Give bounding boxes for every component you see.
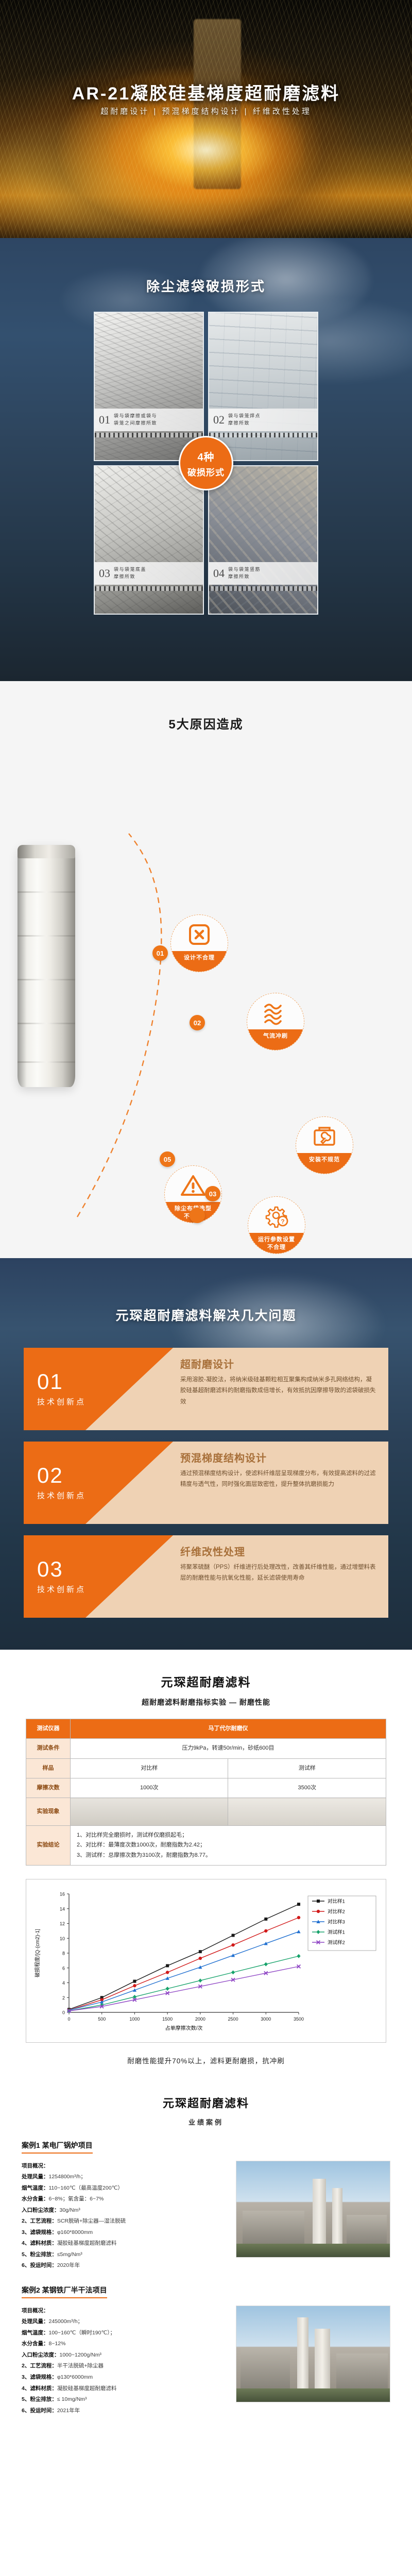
table-row-key: 测试条件 <box>26 1739 71 1758</box>
ruler-strip <box>209 586 317 591</box>
case-spec-row: 水分含量：6~8%；氧含量：6~7% <box>22 2194 229 2205</box>
table-row: 样品 对比样 测试样 <box>26 1758 386 1778</box>
table-cell-photo <box>71 1798 228 1826</box>
table-row-key: 实验结论 <box>26 1826 71 1866</box>
case-title: 案例2 某钢铁厂半干法项目 <box>22 2285 107 2298</box>
svg-text:对比样3: 对比样3 <box>328 1919 345 1925</box>
case-spec-row: 项目概况： <box>22 2161 229 2172</box>
test-conclusion: 耐磨性能提升70%以上，滤料更耐磨损，抗冲刷 <box>0 2055 412 2065</box>
innovation-sublabel: 技术创新点 <box>37 1490 173 1501</box>
table-header-cell: 测试仪器 <box>26 1719 71 1739</box>
case-spec-value: φ160*8000mm <box>57 2227 93 2239</box>
case-spec-label: 5、粉尘排放： <box>22 2394 57 2405</box>
damage-photo-card: 04 袋与袋笼竖筋 摩擦所致 <box>208 465 318 615</box>
damage-photo-label: 01 袋与袋摩擦或袋与 袋笼之间摩擦所致 <box>95 409 203 431</box>
section-title-test: 元琛超耐磨滤料 <box>0 1672 412 1690</box>
case-spec-row: 6、投运时间：2020年年 <box>22 2260 229 2272</box>
case-spec-label: 5、粉尘排放： <box>22 2249 57 2261</box>
case-spec-label: 3、滤袋规格： <box>22 2227 57 2239</box>
damage-photo-card: 02 袋与袋笼焊点 摩擦所致 <box>208 312 318 461</box>
table-header-row: 测试仪器 马丁代尔耐磨仪 <box>26 1719 386 1739</box>
cause-node-04: ? 运行参数设置 不合理 <box>233 1196 320 1254</box>
innovation-number: 01 <box>37 1371 173 1393</box>
case-spec-label: 处理风量： <box>22 2316 49 2328</box>
innovation-card-index: 01 技术创新点 <box>24 1348 173 1430</box>
svg-text:1500: 1500 <box>162 2016 173 2022</box>
case-spec-label: 3、滤袋规格： <box>22 2372 57 2383</box>
ruler-strip <box>209 433 317 437</box>
innovation-text: 将聚苯硫醚（PPS）纤维进行后处理改性，改善其纤维性能，通过增塑料表层的耐磨性能… <box>180 1562 377 1584</box>
table-row: 摩擦次数 1000次 3500次 <box>26 1778 386 1798</box>
case-item: 案例2 某钢铁厂半干法项目 项目概况：处理风量：245000m³/h；烟气温度：… <box>22 2285 390 2416</box>
case-spec-value: 半干法脱硫+除尘器 <box>57 2361 104 2372</box>
table-cell: 测试样 <box>228 1758 386 1778</box>
svg-text:12: 12 <box>60 1921 65 1926</box>
damage-photo-grid: 01 袋与袋摩擦或袋与 袋笼之间摩擦所致 02 袋与袋笼焊点 摩擦所致 <box>94 312 318 615</box>
svg-text:对比样2: 对比样2 <box>328 1908 345 1914</box>
damage-caption: 袋与袋笼竖筋 摩擦所致 <box>228 566 261 581</box>
case-spec-label: 6、投运时间： <box>22 2260 57 2272</box>
case-spec-label: 项目概况： <box>22 2306 49 2317</box>
test-result-table: 测试仪器 马丁代尔耐磨仪 测试条件 压力9kPa，转速50r/min，砂纸600… <box>26 1719 386 1866</box>
svg-text:0: 0 <box>62 2010 65 2015</box>
innovation-text: 通过预混梯度结构设计，使滤料纤维层呈现梯度分布，有效提高滤料的过滤精度与透气性，… <box>180 1468 377 1490</box>
section-subtitle-cases: 业绩案例 <box>0 2117 412 2127</box>
cause-label: 安装不规范 <box>296 1153 353 1174</box>
badge-count: 4种 <box>197 449 214 464</box>
case-spec-row: 6、投运时间：2021年年 <box>22 2405 229 2417</box>
table-cell: 1000次 <box>71 1778 228 1798</box>
case-spec-row: 水分含量：8~12% <box>22 2338 229 2350</box>
case-spec-value: φ130*6000mm <box>57 2372 93 2383</box>
svg-text:测试样2: 测试样2 <box>328 1939 345 1945</box>
svg-text:2500: 2500 <box>228 2016 238 2022</box>
ruler-strip <box>95 586 203 591</box>
damage-caption: 袋与袋笼底盖 摩擦所致 <box>114 566 146 581</box>
case-spec-label: 水分含量： <box>22 2194 49 2205</box>
damage-index: 01 <box>99 414 110 426</box>
gear-question-icon: ? <box>248 1204 305 1228</box>
section-subtitle-test: 超耐磨滤料耐磨指标实验 — 耐磨性能 <box>0 1697 412 1707</box>
cause-node-03: 安装不规范 <box>281 1116 368 1174</box>
damage-index: 04 <box>213 568 225 579</box>
cause-ring: 安装不规范 <box>296 1116 353 1174</box>
innovation-sublabel: 技术创新点 <box>37 1396 173 1407</box>
section-title-damage: 除尘滤袋破损形式 <box>0 238 412 295</box>
svg-text:?: ? <box>281 1218 284 1225</box>
page-title: AR-21凝胶硅基梯度超耐磨滤料 <box>0 79 412 105</box>
table-row-key: 实验现象 <box>26 1798 71 1826</box>
svg-text:2: 2 <box>62 1995 65 2001</box>
innovation-heading: 预混梯度结构设计 <box>180 1450 377 1465</box>
case-spec-row: 3、滤袋规格：φ130*6000mm <box>22 2372 229 2383</box>
case-spec-row: 2、工艺流程：SCR脱硝+除尘器—湿法脱硫 <box>22 2216 229 2227</box>
svg-text:对比样1: 对比样1 <box>328 1898 345 1904</box>
case-spec-row: 5、粉尘排放：≤5mg/Nm³ <box>22 2249 229 2261</box>
damage-photo-image <box>95 466 203 614</box>
table-row-key: 样品 <box>26 1758 71 1778</box>
case-spec-label: 4、滤料材质： <box>22 2383 57 2395</box>
case-spec-value: 30g/Nm³ <box>60 2205 80 2216</box>
innovation-points-section: 元琛超耐磨滤料解决几大问题 01 技术创新点 超耐磨设计 采用溶胶-凝胶法，将纳… <box>0 1258 412 1650</box>
innovation-text: 采用溶胶-凝胶法，将纳米级硅基颗粒相互聚集构成纳米多孔网络结构，凝胶硅基超耐磨滤… <box>180 1375 377 1408</box>
svg-text:1000: 1000 <box>129 2016 140 2022</box>
table-cell: 1、对比样完全磨损时，测试样仅磨损起毛； 2、对比样：最薄度次数1000次，耐磨… <box>71 1826 386 1866</box>
damage-forms-section: 除尘滤袋破损形式 01 袋与袋摩擦或袋与 袋笼之间摩擦所致 02 袋与 <box>0 238 412 681</box>
hero-subtitle: 超耐磨设计 | 预混梯度结构设计 | 纤维改性处理 <box>0 106 412 116</box>
case-spec-value: 100~160℃（瞬时190℃）； <box>49 2328 116 2339</box>
svg-text:测试样1: 测试样1 <box>328 1929 345 1935</box>
cause-marker-01: 01 <box>152 945 168 961</box>
case-spec-row: 处理风量：245000m³/h； <box>22 2316 229 2328</box>
case-spec-value: 6~8%；氧含量：6~7% <box>49 2194 104 2205</box>
hero-banner: AR-21凝胶硅基梯度超耐磨滤料 超耐磨设计 | 预混梯度结构设计 | 纤维改性… <box>0 0 412 238</box>
innovation-card: 01 技术创新点 超耐磨设计 采用溶胶-凝胶法，将纳米级硅基颗粒相互聚集构成纳米… <box>24 1348 388 1430</box>
case-spec-row: 4、滤料材质：凝胶硅基梯度超耐磨滤料 <box>22 2238 229 2249</box>
test-section: 元琛超耐磨滤料 超耐磨滤料耐磨指标实验 — 耐磨性能 测试仪器 马丁代尔耐磨仪 … <box>0 1650 412 2089</box>
svg-text:4: 4 <box>62 1980 65 1986</box>
case-spec-row: 处理风量：1254800m³/h； <box>22 2172 229 2183</box>
case-photo <box>236 2161 390 2258</box>
cause-label: 气流冲刷 <box>247 1029 304 1050</box>
hero-spark-streaks <box>0 0 412 238</box>
innovation-number: 03 <box>37 1558 173 1580</box>
table-cell: 3500次 <box>228 1778 386 1798</box>
damage-caption: 袋与袋摩擦或袋与 袋笼之间摩擦所致 <box>114 413 157 427</box>
svg-text:8: 8 <box>62 1951 65 1956</box>
cause-marker-04 <box>190 1208 205 1223</box>
cause-marker-05: 05 <box>160 1151 175 1167</box>
case-spec-value: 凝胶硅基梯度超耐磨滤料 <box>57 2238 117 2249</box>
cause-node-01: 设计不合理 <box>156 914 243 972</box>
innovation-card-body: 预混梯度结构设计 通过预混梯度结构设计，使滤料纤维层呈现梯度分布，有效提高滤料的… <box>173 1442 388 1524</box>
table-row: 测试条件 压力9kPa，转速50r/min，砂纸600目 <box>26 1739 386 1758</box>
cause-ring: 设计不合理 <box>170 914 228 972</box>
innovation-card-body: 纤维改性处理 将聚苯硫醚（PPS）纤维进行后处理改性，改善其纤维性能，通过增塑料… <box>173 1535 388 1618</box>
svg-text:10: 10 <box>60 1936 65 1941</box>
innovation-card-index: 02 技术创新点 <box>24 1442 173 1524</box>
cause-ring: ? 运行参数设置 不合理 <box>248 1196 305 1254</box>
case-spec-label: 烟气温度： <box>22 2183 49 2194</box>
case-spec-value: 1254800m³/h； <box>49 2172 86 2183</box>
table-cell: 对比样 <box>71 1758 228 1778</box>
innovation-heading: 纤维改性处理 <box>180 1544 377 1558</box>
case-spec-row: 烟气温度：100~160℃（瞬时190℃）； <box>22 2328 229 2339</box>
svg-text:16: 16 <box>60 1891 65 1896</box>
case-spec-row: 入口粉尘浓度：30g/Nm³ <box>22 2205 229 2216</box>
svg-text:14: 14 <box>60 1906 65 1911</box>
table-row-key: 摩擦次数 <box>26 1778 71 1798</box>
cases-section: 元琛超耐磨滤料 业绩案例 案例1 某电厂锅炉项目 项目概况：处理风量：12548… <box>0 2089 412 2437</box>
case-spec-row: 项目概况： <box>22 2306 229 2317</box>
cause-node-02: 气流冲刷 <box>232 993 319 1050</box>
table-cell: 压力9kPa，转速50r/min，砂纸600目 <box>71 1739 386 1758</box>
innovation-card-index: 03 技术创新点 <box>24 1535 173 1618</box>
case-spec-label: 4、滤料材质： <box>22 2238 57 2249</box>
ruler-strip <box>95 433 203 437</box>
case-photo <box>236 2306 390 2402</box>
case-item: 案例1 某电厂锅炉项目 项目概况：处理风量：1254800m³/h；烟气温度：1… <box>22 2140 390 2272</box>
case-spec-value: 2020年年 <box>57 2260 80 2272</box>
toolbox-wrench-icon <box>296 1124 353 1148</box>
damage-photo-image <box>209 313 317 460</box>
case-spec-label: 处理风量： <box>22 2172 49 2183</box>
damage-photo-card: 03 袋与袋笼底盖 摩擦所致 <box>94 465 204 615</box>
five-causes-section: 5大原因造成 01 设计不合理 02 <box>0 681 412 1258</box>
case-spec-value: SCR脱硝+除尘器—湿法脱硫 <box>57 2216 126 2227</box>
case-spec-row: 入口粉尘浓度：1000~1200g/Nm³ <box>22 2350 229 2361</box>
table-cell-photo <box>228 1798 386 1826</box>
case-spec-row: 2、工艺流程：半干法脱硫+除尘器 <box>22 2361 229 2372</box>
waves-icon <box>247 1001 304 1025</box>
cause-marker-02: 02 <box>190 1015 205 1030</box>
badge-label: 破损形式 <box>187 465 225 478</box>
case-spec-value: 245000m³/h； <box>49 2316 83 2328</box>
cause-label: 设计不合理 <box>170 951 228 972</box>
svg-text:6: 6 <box>62 1965 65 1971</box>
cause-marker-03: 03 <box>205 1186 220 1201</box>
svg-text:3000: 3000 <box>261 2016 271 2022</box>
damage-index: 02 <box>213 414 225 426</box>
case-spec-label: 6、投运时间： <box>22 2405 57 2417</box>
case-spec-list: 项目概况：处理风量：1254800m³/h；烟气温度：110~160℃（最高温度… <box>22 2161 229 2272</box>
case-spec-value: 2021年年 <box>57 2405 80 2417</box>
innovation-card: 03 技术创新点 纤维改性处理 将聚苯硫醚（PPS）纤维进行后处理改性，改善其纤… <box>24 1535 388 1618</box>
section-title-solve: 元琛超耐磨滤料解决几大问题 <box>0 1258 412 1348</box>
innovation-heading: 超耐磨设计 <box>180 1356 377 1371</box>
innovation-card-body: 超耐磨设计 采用溶胶-凝胶法，将纳米级硅基颗粒相互聚集构成纳米多孔网络结构，凝胶… <box>173 1348 388 1430</box>
case-spec-row: 烟气温度：110~160℃（最高温度200℃） <box>22 2183 229 2194</box>
case-spec-label: 2、工艺流程： <box>22 2216 57 2227</box>
section-title-cases: 元琛超耐磨滤料 <box>0 2094 412 2111</box>
chart-canvas: 0246810121416050010001500200025003000350… <box>30 1885 382 2039</box>
svg-text:500: 500 <box>98 2016 106 2022</box>
damage-photo-label: 02 袋与袋笼焊点 摩擦所致 <box>209 409 317 431</box>
svg-text:3500: 3500 <box>294 2016 304 2022</box>
damage-photo-label: 04 袋与袋笼竖筋 摩擦所致 <box>209 562 317 585</box>
damage-photo-image <box>95 313 203 460</box>
case-spec-value: ≤ 10mg/Nm³ <box>57 2394 87 2405</box>
case-title: 案例1 某电厂锅炉项目 <box>22 2140 93 2154</box>
svg-text:破损程度/[Q·(cm2)-1]: 破损程度/[Q·(cm2)-1] <box>34 1929 41 1977</box>
case-spec-label: 入口粉尘浓度： <box>22 2350 60 2361</box>
case-spec-label: 项目概况： <box>22 2161 49 2172</box>
cause-label: 运行参数设置 不合理 <box>248 1233 305 1254</box>
product-landing-page: AR-21凝胶硅基梯度超耐磨滤料 超耐磨设计 | 预混梯度结构设计 | 纤维改性… <box>0 0 412 2437</box>
innovation-number: 02 <box>37 1465 173 1486</box>
case-spec-list: 项目概况：处理风量：245000m³/h；烟气温度：100~160℃（瞬时190… <box>22 2306 229 2416</box>
damage-photo-label: 03 袋与袋笼底盖 摩擦所致 <box>95 562 203 585</box>
svg-text:2000: 2000 <box>195 2016 205 2022</box>
case-spec-value: 1000~1200g/Nm³ <box>60 2350 101 2361</box>
damage-caption: 袋与袋笼焊点 摩擦所致 <box>228 413 261 427</box>
cause-ring: 气流冲刷 <box>247 993 304 1050</box>
case-spec-value: 8~12% <box>49 2338 66 2350</box>
x-box-icon <box>171 922 228 947</box>
svg-text:0: 0 <box>67 2016 70 2022</box>
table-header-cell: 马丁代尔耐磨仪 <box>71 1719 386 1739</box>
damage-photo-card: 01 袋与袋摩擦或袋与 袋笼之间摩擦所致 <box>94 312 204 461</box>
case-spec-label: 水分含量： <box>22 2338 49 2350</box>
case-spec-value: 凝胶硅基梯度超耐磨滤料 <box>57 2383 117 2395</box>
case-spec-row: 4、滤料材质：凝胶硅基梯度超耐磨滤料 <box>22 2383 229 2395</box>
case-spec-row: 5、粉尘排放：≤ 10mg/Nm³ <box>22 2394 229 2405</box>
damage-count-badge: 4种 破损形式 <box>179 436 233 490</box>
svg-text:占单摩擦次数/次: 占单摩擦次数/次 <box>165 2025 203 2031</box>
damage-photo-image <box>209 466 317 614</box>
case-spec-value: 110~160℃（最高温度200℃） <box>49 2183 124 2194</box>
table-row: 实验现象 <box>26 1798 386 1826</box>
wear-test-chart: 0246810121416050010001500200025003000350… <box>26 1879 386 2043</box>
case-spec-value: ≤5mg/Nm³ <box>57 2249 82 2261</box>
case-spec-row: 3、滤袋规格：φ160*8000mm <box>22 2227 229 2239</box>
case-spec-label: 入口粉尘浓度： <box>22 2205 60 2216</box>
case-spec-label: 烟气温度： <box>22 2328 49 2339</box>
innovation-sublabel: 技术创新点 <box>37 1584 173 1595</box>
table-row: 实验结论 1、对比样完全磨损时，测试样仅磨损起毛； 2、对比样：最薄度次数100… <box>26 1826 386 1866</box>
damage-index: 03 <box>99 568 110 579</box>
innovation-card: 02 技术创新点 预混梯度结构设计 通过预混梯度结构设计，使滤料纤维层呈现梯度分… <box>24 1442 388 1524</box>
case-spec-label: 2、工艺流程： <box>22 2361 57 2372</box>
